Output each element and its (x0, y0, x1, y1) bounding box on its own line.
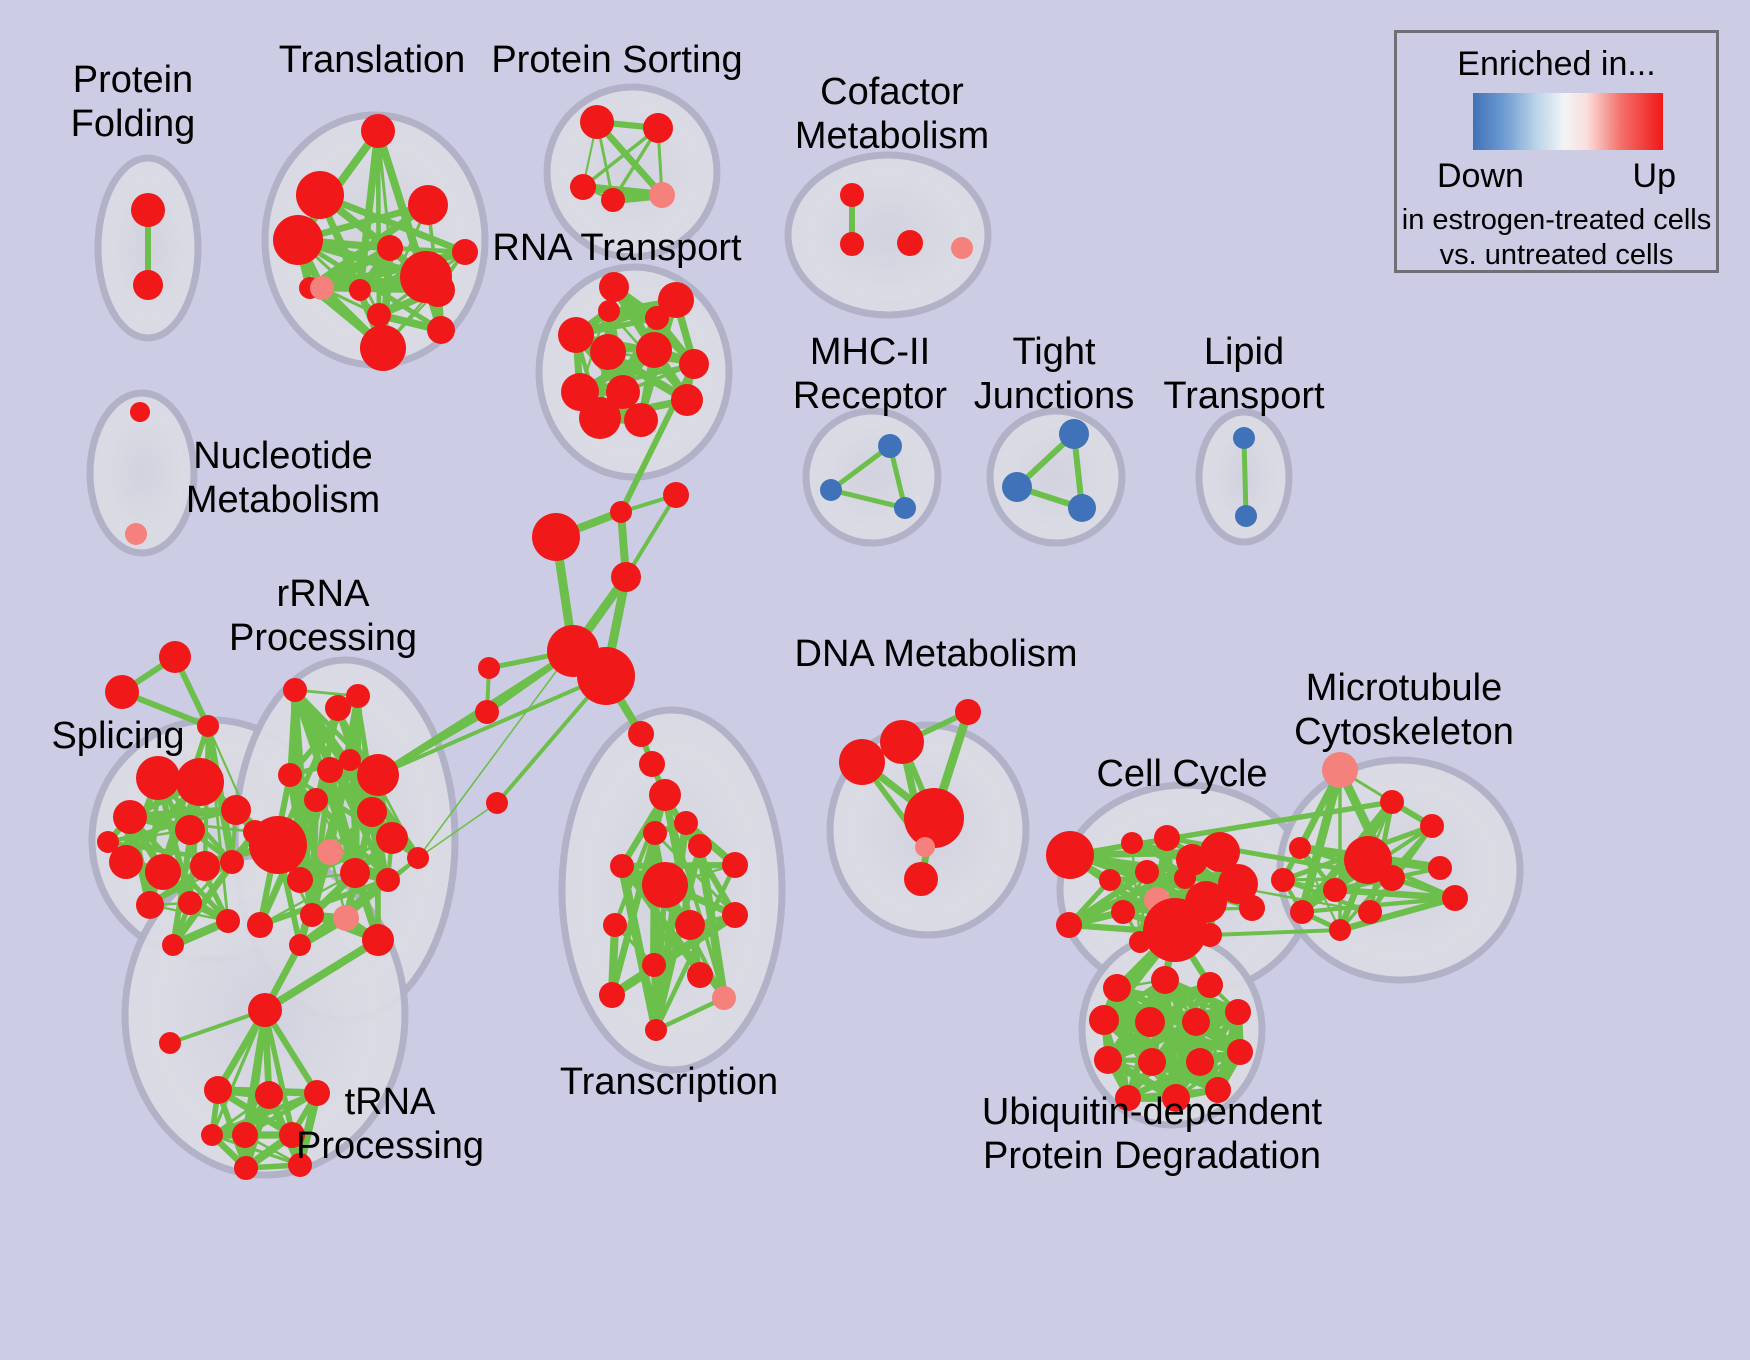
network-node[interactable] (176, 758, 224, 806)
network-node[interactable] (289, 934, 311, 956)
network-node[interactable] (130, 402, 150, 422)
network-node[interactable] (643, 821, 667, 845)
cluster-blob-mhc-ii-receptor (806, 411, 938, 543)
network-node[interactable] (663, 482, 689, 508)
network-node[interactable] (232, 1122, 258, 1148)
network-node[interactable] (136, 891, 164, 919)
network-node[interactable] (599, 272, 629, 302)
network-node[interactable] (357, 754, 399, 796)
network-node[interactable] (296, 171, 344, 219)
network-node[interactable] (247, 912, 273, 938)
network-node[interactable] (1420, 814, 1444, 838)
network-node[interactable] (643, 113, 673, 143)
network-node[interactable] (1068, 494, 1096, 522)
network-node[interactable] (1358, 900, 1382, 924)
network-node[interactable] (840, 232, 864, 256)
network-node[interactable] (1197, 972, 1223, 998)
cluster-label-tight-junctions: Tight Junctions (974, 330, 1135, 418)
network-node[interactable] (339, 749, 361, 771)
network-node[interactable] (1227, 1039, 1253, 1065)
network-node[interactable] (915, 837, 935, 857)
network-figure: Protein FoldingTranslationProtein Sortin… (0, 0, 1750, 1360)
network-node[interactable] (190, 851, 220, 881)
legend-caption-line1: in estrogen-treated cells (1402, 204, 1712, 236)
network-node[interactable] (839, 739, 885, 785)
network-node[interactable] (317, 839, 343, 865)
network-node[interactable] (255, 1081, 283, 1109)
network-node[interactable] (1174, 867, 1196, 889)
network-node[interactable] (1099, 869, 1121, 891)
cluster-label-cofactor-metabolism: Cofactor Metabolism (795, 70, 989, 158)
network-node[interactable] (649, 182, 675, 208)
network-node[interactable] (310, 276, 334, 300)
network-node[interactable] (955, 699, 981, 725)
network-node[interactable] (675, 910, 705, 940)
network-node[interactable] (1323, 878, 1347, 902)
network-node[interactable] (1198, 923, 1222, 947)
cluster-label-dna-metabolism: DNA Metabolism (795, 632, 1078, 676)
network-node[interactable] (377, 235, 403, 261)
network-node[interactable] (532, 513, 580, 561)
network-node[interactable] (475, 700, 499, 724)
network-node[interactable] (642, 953, 666, 977)
network-node[interactable] (1235, 505, 1257, 527)
cluster-label-splicing: Splicing (51, 714, 184, 758)
network-node[interactable] (204, 1076, 232, 1104)
network-node[interactable] (376, 822, 408, 854)
network-node[interactable] (904, 788, 964, 848)
network-node[interactable] (688, 834, 712, 858)
network-node[interactable] (579, 397, 621, 439)
network-edge (1244, 438, 1246, 516)
cluster-label-cell-cycle: Cell Cycle (1096, 752, 1267, 796)
network-node[interactable] (628, 721, 654, 747)
network-node[interactable] (671, 384, 703, 416)
network-node[interactable] (894, 497, 916, 519)
network-node[interactable] (1103, 974, 1131, 1002)
network-node[interactable] (1271, 868, 1295, 892)
legend-caption: in estrogen-treated cells vs. untreated … (1397, 203, 1716, 273)
network-node[interactable] (360, 325, 406, 371)
network-node[interactable] (880, 720, 924, 764)
network-node[interactable] (674, 811, 698, 835)
network-node[interactable] (1233, 427, 1255, 449)
network-node[interactable] (273, 215, 323, 265)
network-node[interactable] (558, 317, 594, 353)
network-node[interactable] (408, 185, 448, 225)
network-node[interactable] (1239, 895, 1265, 921)
network-node[interactable] (687, 962, 713, 988)
legend-panel: Enriched in... Down Up in estrogen-treat… (1394, 30, 1719, 273)
network-node[interactable] (478, 657, 500, 679)
color-scale-bar (1473, 93, 1663, 150)
network-node[interactable] (639, 751, 665, 777)
cluster-label-mhc-ii-receptor: MHC-II Receptor (793, 330, 947, 418)
legend-high-label: Up (1633, 157, 1676, 196)
network-node[interactable] (712, 986, 736, 1010)
network-node[interactable] (1225, 999, 1251, 1025)
network-node[interactable] (642, 862, 688, 908)
cluster-label-trna-processing: tRNA Processing (296, 1080, 484, 1168)
network-node[interactable] (570, 174, 596, 200)
cluster-label-rrna-processing: rRNA Processing (229, 572, 417, 660)
network-node[interactable] (1056, 912, 1082, 938)
network-node[interactable] (159, 641, 191, 673)
cluster-label-protein-sorting: Protein Sorting (491, 38, 742, 82)
network-node[interactable] (367, 303, 391, 327)
network-node[interactable] (904, 862, 938, 896)
network-node[interactable] (400, 251, 452, 303)
network-node[interactable] (1329, 919, 1351, 941)
network-node[interactable] (376, 868, 400, 892)
network-node[interactable] (722, 902, 748, 928)
network-node[interactable] (452, 239, 478, 265)
legend-low-label: Down (1437, 157, 1524, 196)
legend-caption-line2: vs. untreated cells (1440, 239, 1674, 271)
cluster-label-translation: Translation (279, 38, 466, 82)
network-node[interactable] (300, 903, 324, 927)
network-node[interactable] (1111, 900, 1135, 924)
network-node[interactable] (1221, 867, 1243, 889)
network-node[interactable] (624, 403, 658, 437)
network-node[interactable] (427, 316, 455, 344)
network-node[interactable] (407, 847, 429, 869)
network-node[interactable] (1379, 865, 1405, 891)
network-node[interactable] (897, 230, 923, 256)
network-node[interactable] (649, 779, 681, 811)
network-node[interactable] (603, 913, 627, 937)
network-node[interactable] (1135, 860, 1159, 884)
network-node[interactable] (125, 523, 147, 545)
network-node[interactable] (340, 858, 370, 888)
network-node[interactable] (598, 300, 620, 322)
network-node[interactable] (287, 867, 313, 893)
cluster-label-protein-folding: Protein Folding (71, 58, 196, 146)
cluster-label-transcription: Transcription (560, 1060, 778, 1104)
network-edge (655, 833, 656, 1030)
network-node[interactable] (1154, 825, 1180, 851)
network-node[interactable] (178, 891, 202, 915)
network-node[interactable] (486, 792, 508, 814)
network-node[interactable] (133, 270, 163, 300)
network-node[interactable] (722, 852, 748, 878)
network-node[interactable] (645, 1019, 667, 1041)
cluster-label-nucleotide-metabolism: Nucleotide Metabolism (186, 434, 380, 522)
network-node[interactable] (679, 349, 709, 379)
network-node[interactable] (1186, 1048, 1214, 1076)
network-node[interactable] (1059, 419, 1089, 449)
network-node[interactable] (840, 183, 864, 207)
network-node[interactable] (1138, 1048, 1166, 1076)
network-node[interactable] (362, 924, 394, 956)
network-node[interactable] (105, 675, 139, 709)
network-node[interactable] (357, 797, 387, 827)
network-node[interactable] (820, 479, 842, 501)
network-node[interactable] (636, 332, 672, 368)
network-node[interactable] (1290, 900, 1314, 924)
network-node[interactable] (1182, 1008, 1210, 1036)
network-node[interactable] (248, 993, 282, 1027)
network-node[interactable] (1089, 1005, 1119, 1035)
network-node[interactable] (113, 800, 147, 834)
network-node[interactable] (1289, 837, 1311, 859)
network-node[interactable] (577, 647, 635, 705)
network-node[interactable] (145, 854, 181, 890)
network-node[interactable] (580, 105, 614, 139)
network-node[interactable] (1046, 831, 1094, 879)
network-node[interactable] (197, 715, 219, 737)
network-node[interactable] (159, 1032, 181, 1054)
network-node[interactable] (175, 815, 205, 845)
network-node[interactable] (201, 1124, 223, 1146)
network-node[interactable] (611, 562, 641, 592)
cluster-label-lipid-transport: Lipid Transport (1163, 330, 1324, 418)
cluster-label-microtubule-cytoskeleton: Microtubule Cytoskeleton (1294, 666, 1514, 754)
network-node[interactable] (249, 816, 307, 874)
network-node[interactable] (1094, 1046, 1122, 1074)
network-node[interactable] (1121, 832, 1143, 854)
network-node[interactable] (333, 905, 359, 931)
network-node[interactable] (220, 850, 244, 874)
network-node[interactable] (349, 279, 371, 301)
legend-title: Enriched in... (1397, 45, 1716, 84)
network-node[interactable] (645, 306, 669, 330)
network-node[interactable] (590, 334, 626, 370)
network-node[interactable] (599, 982, 625, 1008)
network-node[interactable] (346, 684, 370, 708)
network-node[interactable] (361, 114, 395, 148)
network-node[interactable] (1143, 898, 1207, 962)
network-node[interactable] (878, 434, 902, 458)
network-node[interactable] (278, 763, 302, 787)
network-node[interactable] (610, 854, 634, 878)
network-node[interactable] (221, 795, 251, 825)
network-node[interactable] (1322, 752, 1358, 788)
network-node[interactable] (216, 909, 240, 933)
network-node[interactable] (162, 934, 184, 956)
network-node[interactable] (1002, 472, 1032, 502)
network-node[interactable] (610, 501, 632, 523)
network-node[interactable] (951, 237, 973, 259)
network-node[interactable] (1151, 966, 1179, 994)
cluster-blob-cofactor-metabolism (788, 155, 988, 315)
network-node[interactable] (304, 788, 328, 812)
network-node[interactable] (1129, 931, 1151, 953)
network-node[interactable] (1428, 856, 1452, 880)
network-node[interactable] (234, 1156, 258, 1180)
network-node[interactable] (283, 678, 307, 702)
network-node[interactable] (131, 193, 165, 227)
network-node[interactable] (136, 756, 180, 800)
network-node[interactable] (97, 831, 119, 853)
network-node[interactable] (1135, 1007, 1165, 1037)
cluster-label-rna-transport: RNA Transport (492, 226, 741, 270)
network-node[interactable] (1442, 885, 1468, 911)
network-node[interactable] (601, 188, 625, 212)
network-node[interactable] (1380, 790, 1404, 814)
cluster-label-ubiquitin-protein-degradation: Ubiquitin-dependent Protein Degradation (982, 1090, 1322, 1178)
